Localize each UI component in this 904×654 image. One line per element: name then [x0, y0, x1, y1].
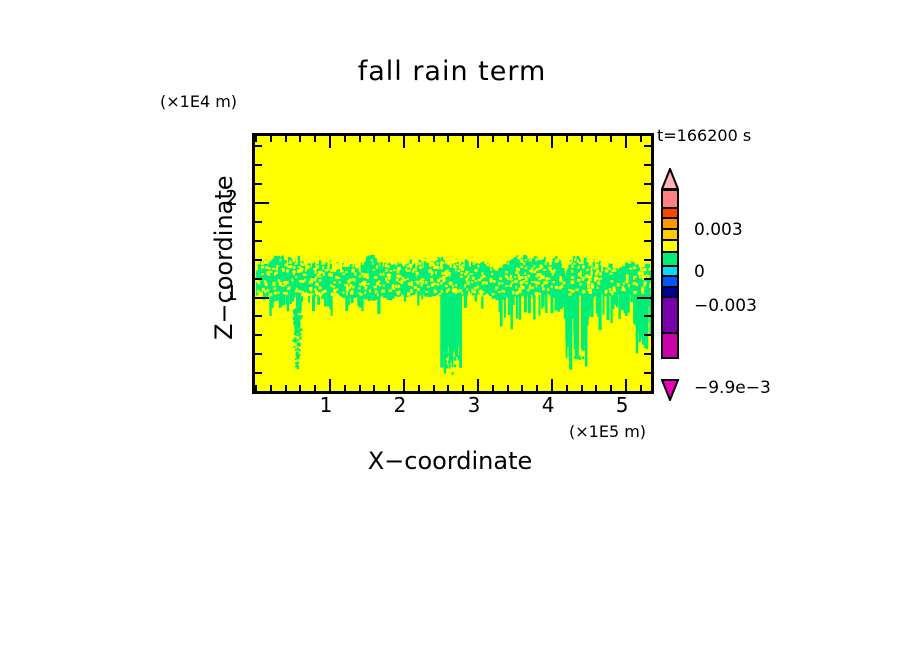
y-minor-tick [255, 145, 262, 147]
y-minor-tick [255, 353, 262, 355]
y-minor-tick [255, 372, 262, 374]
x-minor-tick-top [581, 136, 583, 142]
x-major-tick [329, 379, 331, 391]
y-major-tick [255, 202, 269, 204]
y-minor-tick-right [644, 259, 651, 261]
x-minor-tick [536, 385, 538, 391]
y-minor-tick-right [644, 183, 651, 185]
x-minor-tick [270, 385, 272, 391]
y-major-tick-right [637, 297, 651, 299]
colorbar-top-arrow-outline [661, 168, 679, 190]
x-minor-tick [462, 385, 464, 391]
x-minor-tick [373, 385, 375, 391]
x-minor-tick-top [492, 136, 494, 142]
colorbar-tick-label: 0 [694, 262, 705, 282]
x-minor-tick-top [373, 136, 375, 142]
x-minor-tick-top [433, 136, 435, 142]
x-minor-tick-top [255, 136, 257, 142]
y-minor-tick [255, 315, 262, 317]
x-minor-tick [359, 385, 361, 391]
colorbar-tick-label: −9.9e−3 [694, 378, 771, 398]
x-minor-tick-top [344, 136, 346, 142]
x-minor-tick-top [270, 136, 272, 142]
x-tick-label: 3 [454, 393, 494, 417]
plot-area [252, 133, 654, 394]
y-minor-tick-right [644, 145, 651, 147]
x-minor-tick [447, 385, 449, 391]
y-minor-tick-right [644, 240, 651, 242]
x-major-tick [403, 379, 405, 391]
y-minor-tick [255, 259, 262, 261]
x-minor-tick [344, 385, 346, 391]
colorbar-band [661, 332, 679, 359]
x-minor-tick-top [610, 136, 612, 142]
x-major-tick-top [551, 136, 553, 148]
colorbar-bottom-arrow-outline [661, 379, 679, 401]
y-major-tick [255, 297, 269, 299]
x-major-tick [625, 379, 627, 391]
x-minor-tick [640, 385, 642, 391]
x-minor-tick-top [447, 136, 449, 142]
y-minor-tick [255, 391, 262, 393]
contour-field [255, 136, 651, 391]
chart-title: fall rain term [358, 56, 547, 87]
x-minor-tick-top [536, 136, 538, 142]
x-minor-tick [610, 385, 612, 391]
colorbar-band [661, 296, 679, 334]
x-minor-tick-top [388, 136, 390, 142]
y-minor-tick-right [644, 278, 651, 280]
x-minor-tick [388, 385, 390, 391]
x-minor-tick-top [359, 136, 361, 142]
x-axis-title: X−coordinate [252, 447, 648, 475]
x-minor-tick-top [299, 136, 301, 142]
x-major-tick-top [403, 136, 405, 148]
y-minor-tick [255, 334, 262, 336]
x-tick-label: 4 [528, 393, 568, 417]
y-axis-units-label: (×1E4 m) [160, 92, 237, 111]
x-major-tick-top [625, 136, 627, 148]
x-minor-tick-top [418, 136, 420, 142]
y-minor-tick [255, 221, 262, 223]
figure-canvas: fall rain term (×1E4 m) (×1E5 m) t=16620… [0, 0, 904, 654]
y-minor-tick-right [644, 164, 651, 166]
x-minor-tick-top [285, 136, 287, 142]
x-major-tick [551, 379, 553, 391]
x-minor-tick [418, 385, 420, 391]
x-minor-tick [566, 385, 568, 391]
y-minor-tick-right [644, 334, 651, 336]
x-minor-tick-top [595, 136, 597, 142]
x-major-tick-top [477, 136, 479, 148]
time-annotation: t=166200 s [657, 126, 751, 145]
x-minor-tick [285, 385, 287, 391]
y-minor-tick [255, 278, 262, 280]
y-minor-tick-right [644, 221, 651, 223]
x-minor-tick [492, 385, 494, 391]
x-tick-label: 1 [306, 393, 346, 417]
x-minor-tick-top [640, 136, 642, 142]
page-title: fall rain term [0, 56, 904, 87]
x-tick-label: 5 [602, 393, 642, 417]
colorbar-tick-label: 0.003 [694, 220, 743, 240]
colorbar[interactable] [661, 189, 679, 359]
y-minor-tick [255, 183, 262, 185]
y-minor-tick-right [644, 391, 651, 393]
x-minor-tick-top [507, 136, 509, 142]
y-major-tick-right [637, 202, 651, 204]
x-minor-tick [581, 385, 583, 391]
y-minor-tick-right [644, 353, 651, 355]
x-minor-tick [299, 385, 301, 391]
x-minor-tick-top [566, 136, 568, 142]
colorbar-band [661, 189, 679, 209]
x-major-tick-top [329, 136, 331, 148]
x-minor-tick [521, 385, 523, 391]
y-minor-tick [255, 164, 262, 166]
y-minor-tick [255, 240, 262, 242]
x-minor-tick [595, 385, 597, 391]
x-axis-units-label: (×1E5 m) [569, 422, 646, 441]
y-minor-tick-right [644, 372, 651, 374]
y-tick-label: 1 [212, 281, 238, 305]
x-minor-tick [314, 385, 316, 391]
x-minor-tick-top [462, 136, 464, 142]
x-minor-tick [433, 385, 435, 391]
x-minor-tick-top [314, 136, 316, 142]
x-minor-tick [507, 385, 509, 391]
y-tick-label: 2 [212, 186, 238, 210]
y-minor-tick-right [644, 315, 651, 317]
x-tick-label: 2 [380, 393, 420, 417]
x-major-tick [477, 379, 479, 391]
x-minor-tick-top [521, 136, 523, 142]
colorbar-tick-label: −0.003 [694, 296, 757, 316]
